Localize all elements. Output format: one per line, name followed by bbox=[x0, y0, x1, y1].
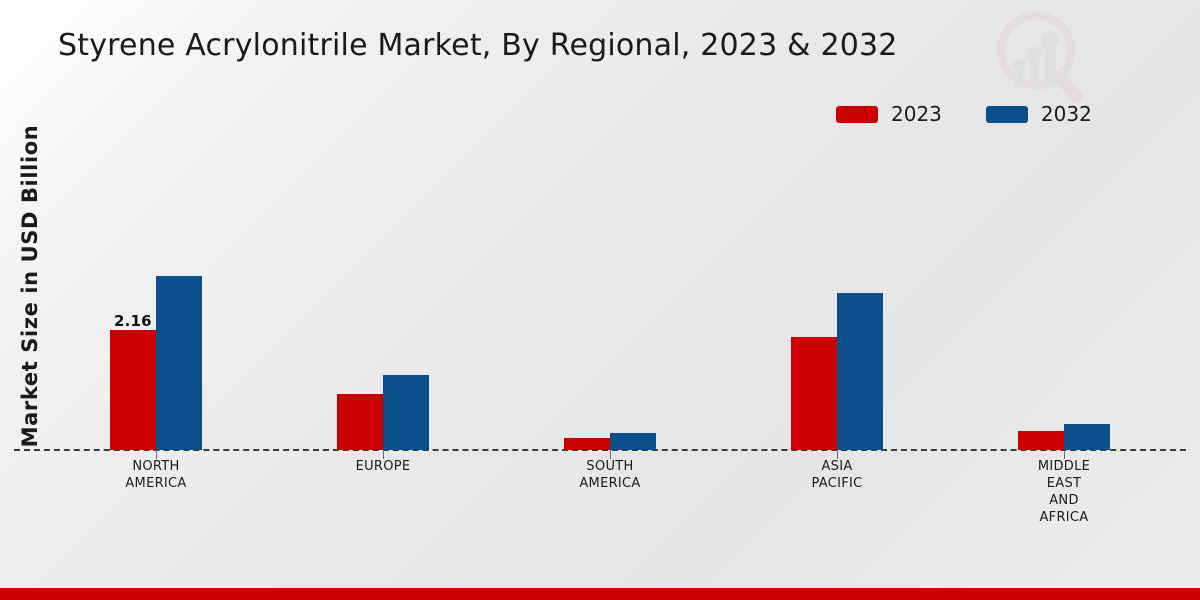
bar-2023-north-america[interactable] bbox=[110, 330, 156, 450]
x-label-line: EAST bbox=[984, 475, 1144, 492]
bar-2032-south-america[interactable] bbox=[610, 433, 656, 450]
data-label-2023-north-america: 2.16 bbox=[114, 312, 152, 330]
bar-2023-asia-pacific[interactable] bbox=[791, 337, 837, 450]
x-label-line: AMERICA bbox=[530, 475, 690, 492]
x-label-line: PACIFIC bbox=[757, 475, 917, 492]
x-label-line: MIDDLE bbox=[984, 458, 1144, 475]
bar-2023-europe[interactable] bbox=[337, 394, 383, 450]
x-label-north-america: NORTH AMERICA bbox=[76, 458, 236, 492]
x-label-line: AND bbox=[984, 492, 1144, 509]
x-label-line: SOUTH bbox=[530, 458, 690, 475]
bar-2023-middle-east-and-africa[interactable] bbox=[1018, 431, 1064, 450]
bar-2032-north-america[interactable] bbox=[156, 276, 202, 450]
chart-canvas: Styrene Acrylonitrile Market, By Regiona… bbox=[0, 0, 1200, 600]
bar-2032-europe[interactable] bbox=[383, 375, 429, 450]
x-label-line: AMERICA bbox=[76, 475, 236, 492]
x-label-europe: EUROPE bbox=[303, 458, 463, 475]
x-label-line: ASIA bbox=[757, 458, 917, 475]
x-label-asia-pacific: ASIA PACIFIC bbox=[757, 458, 917, 492]
x-label-line: EUROPE bbox=[303, 458, 463, 475]
footer-accent-strip bbox=[0, 588, 1200, 600]
bar-2032-asia-pacific[interactable] bbox=[837, 293, 883, 450]
bar-2023-south-america[interactable] bbox=[564, 438, 610, 450]
x-label-south-america: SOUTH AMERICA bbox=[530, 458, 690, 492]
x-label-middle-east-and-africa: MIDDLE EAST AND AFRICA bbox=[984, 458, 1144, 526]
bar-2032-middle-east-and-africa[interactable] bbox=[1064, 424, 1110, 450]
x-label-line: NORTH bbox=[76, 458, 236, 475]
x-label-line: AFRICA bbox=[984, 509, 1144, 526]
plot-area: 2.16 NORTH AMERICA EUROPE SOUTH AMERICA … bbox=[0, 0, 1200, 600]
